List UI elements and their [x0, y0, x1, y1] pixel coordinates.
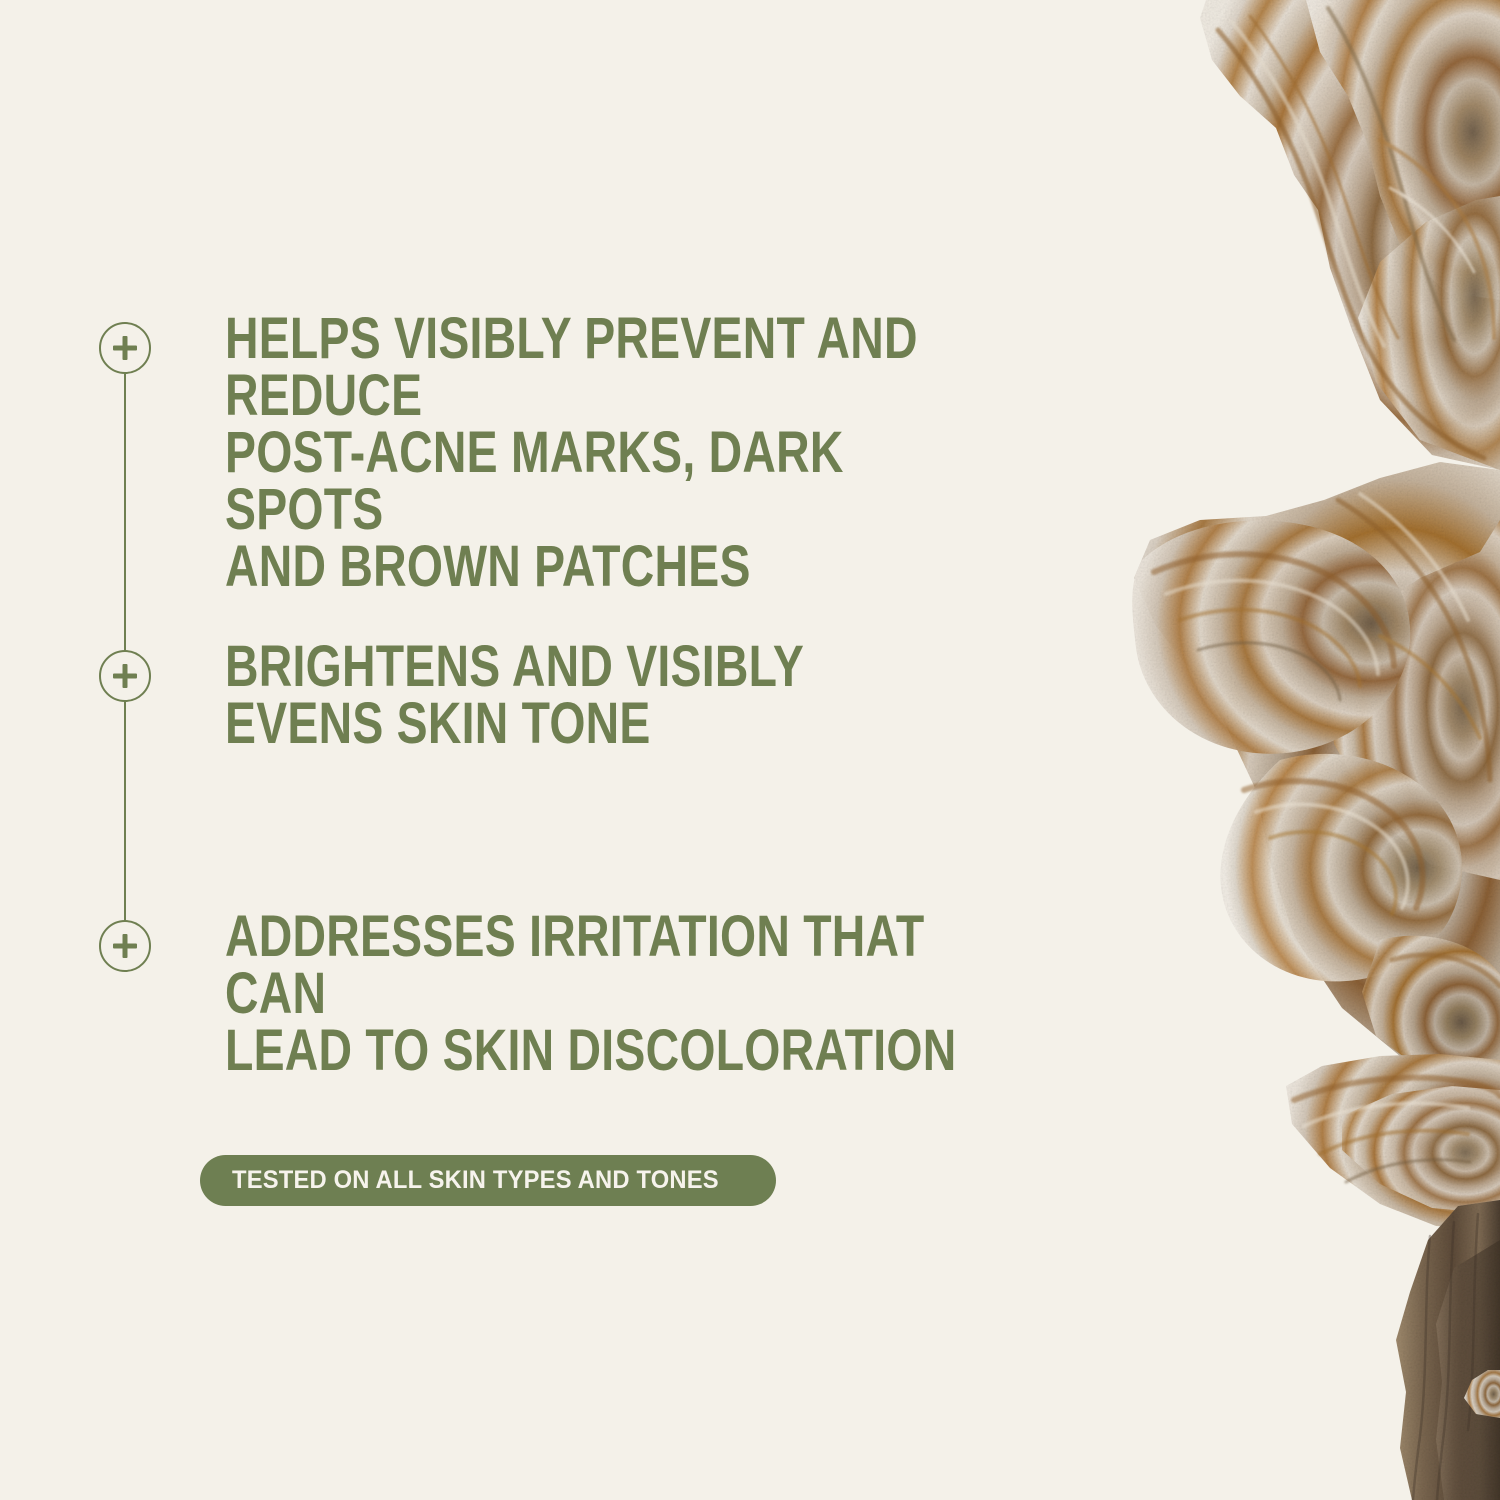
benefit-text-3: ADDRESSES IRRITATION THAT CAN LEAD TO SK…: [225, 908, 957, 1079]
benefit-item-3: ADDRESSES IRRITATION THAT CAN LEAD TO SK…: [0, 908, 1140, 1079]
plus-icon: [99, 920, 151, 972]
benefits-list: HELPS VISIBLY PREVENT AND REDUCE POST-AC…: [0, 0, 1140, 1500]
benefit-item-1: HELPS VISIBLY PREVENT AND REDUCE POST-AC…: [0, 310, 1140, 595]
status-badge: TESTED ON ALL SKIN TYPES AND TONES: [200, 1155, 776, 1206]
benefit-text-1: HELPS VISIBLY PREVENT AND REDUCE POST-AC…: [225, 310, 957, 595]
turkey-tail-mushroom-image: [1080, 0, 1500, 1500]
benefit-item-2: BRIGHTENS AND VISIBLY EVENS SKIN TONE: [0, 638, 949, 752]
benefits-poster: HELPS VISIBLY PREVENT AND REDUCE POST-AC…: [0, 0, 1500, 1500]
plus-icon: [99, 322, 151, 374]
status-badge-label: TESTED ON ALL SKIN TYPES AND TONES: [232, 1166, 719, 1195]
plus-icon: [99, 650, 151, 702]
benefit-text-2: BRIGHTENS AND VISIBLY EVENS SKIN TONE: [225, 638, 804, 752]
